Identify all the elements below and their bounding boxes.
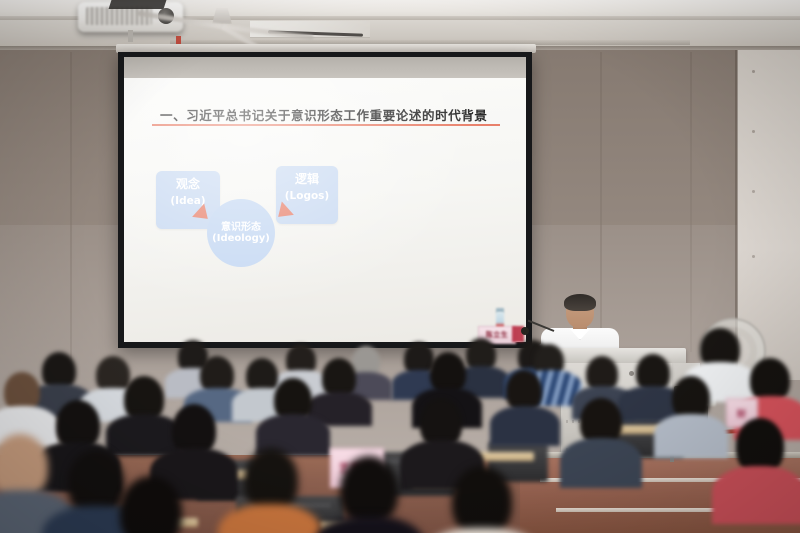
slide-node-ideology: 意识形态 (Ideology) <box>207 199 275 267</box>
audience-shoulders <box>490 406 560 446</box>
slide-node-idea-en: (Idea) <box>156 195 220 208</box>
audience-shoulders <box>654 414 728 458</box>
sign-right-text: 财 <box>737 407 747 420</box>
lecture-hall-photo: 一、习近平总书记关于意识形态工作重要论述的时代背景 观念 (Idea) 逻辑 (… <box>0 0 800 533</box>
audience-head <box>452 466 512 533</box>
slide-node-idea-cn: 观念 <box>156 177 220 192</box>
projector-pole <box>128 30 133 42</box>
slide-node-logos-cn: 逻辑 <box>276 172 338 187</box>
slide-title-underline <box>152 124 500 126</box>
audience-head <box>244 448 298 512</box>
screen-top-band <box>124 57 526 79</box>
audience-area: 财 <box>0 300 800 533</box>
audience-shoulders <box>424 528 540 533</box>
slide-title: 一、习近平总书记关于意识形态工作重要论述的时代背景 <box>160 105 490 124</box>
wall-fixing-dots <box>752 70 755 73</box>
projector-mount-bracket <box>109 0 167 9</box>
slide-node-logos-en: (Logos) <box>276 190 338 203</box>
audience-head <box>0 434 48 498</box>
folding-desk <box>478 452 534 461</box>
audience-shoulders <box>560 438 642 488</box>
audience-head <box>340 456 398 524</box>
audience-shoulders <box>712 466 800 524</box>
